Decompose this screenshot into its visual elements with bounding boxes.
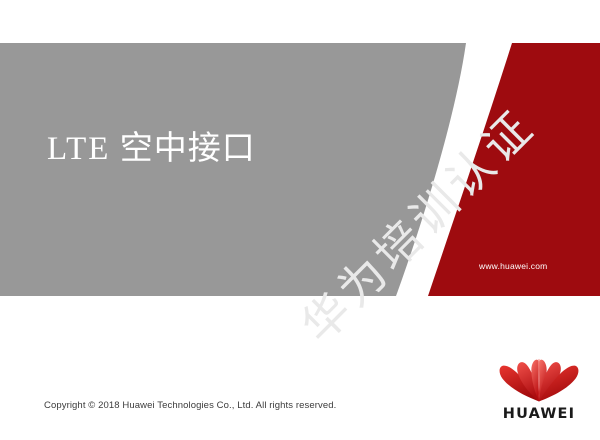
huawei-logo: HUAWEI: [496, 358, 582, 424]
huawei-wordmark: HUAWEI: [496, 406, 582, 422]
huawei-flower-icon: [496, 358, 582, 404]
copyright-notice: Copyright © 2018 Huawei Technologies Co.…: [44, 400, 336, 411]
title-cjk: 空中接口: [120, 128, 256, 167]
watermark-text: 华为培训认证: [268, 51, 593, 376]
website-url[interactable]: www.huawei.com: [479, 261, 547, 271]
title-latin: LTE: [47, 131, 110, 167]
slide-canvas: 华为培训认证 LTE 空中接口 www.huawei.com Copyright…: [0, 0, 600, 440]
page-title: LTE 空中接口: [47, 121, 256, 169]
red-band-shape: [428, 43, 600, 296]
gray-band-shape: [0, 43, 466, 296]
